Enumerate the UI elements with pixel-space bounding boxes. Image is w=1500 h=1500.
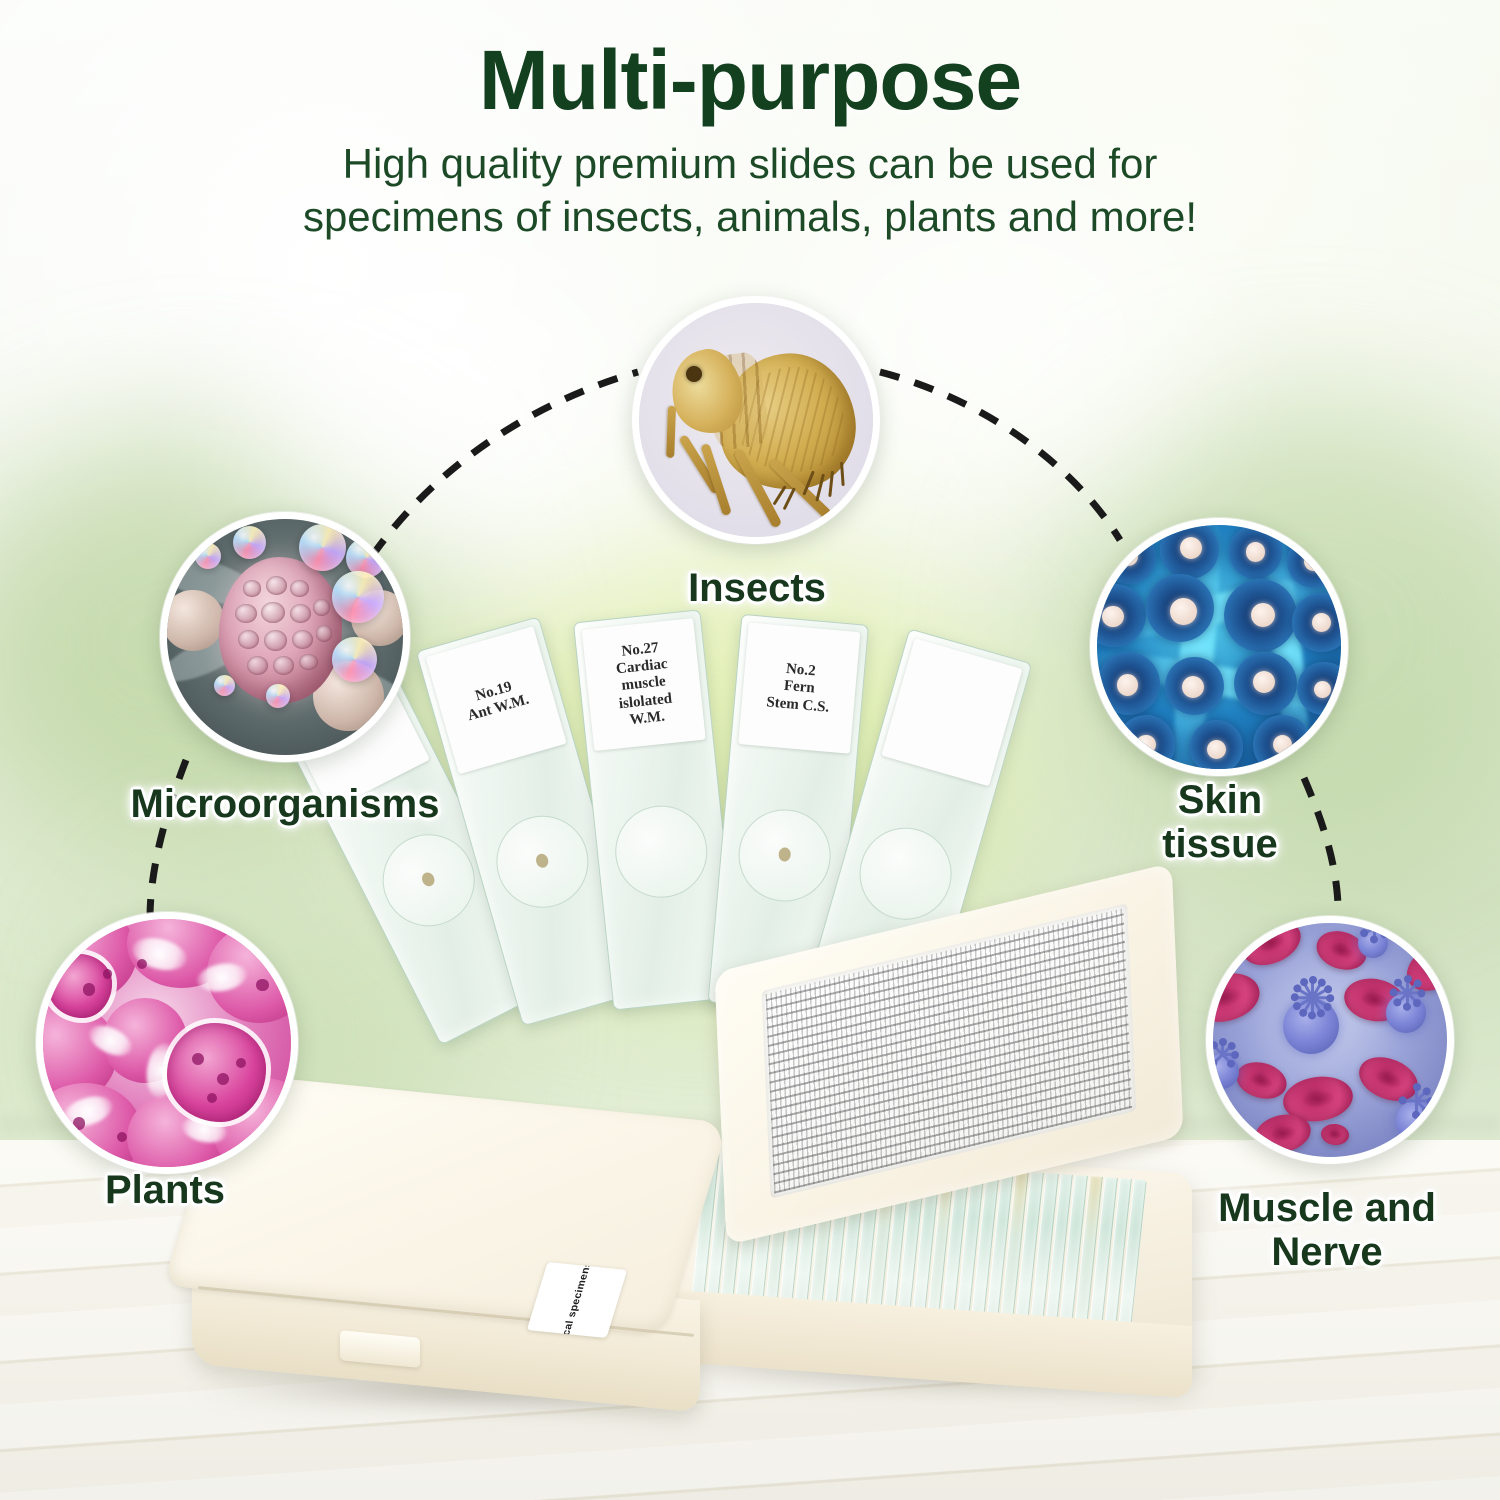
muscle-nerve-bubble [1206, 916, 1454, 1164]
subtitle-line-2: specimens of insects, animals, plants an… [0, 191, 1500, 244]
callout-insects[interactable] [632, 296, 880, 544]
slide-coverslip [611, 801, 712, 902]
callout-muscle-and-nerve[interactable] [1206, 916, 1454, 1164]
slide-label: No.2 Fern Stem C.S. [738, 622, 860, 753]
callout-skin-tissue[interactable] [1090, 518, 1348, 776]
flea-specimen-icon [639, 303, 873, 537]
page-subtitle: High quality premium slides can be used … [0, 138, 1500, 244]
skin-tissue-bubble [1090, 518, 1348, 776]
callout-label-muscle-and-nerve: Muscle and Nerve [1162, 1186, 1492, 1274]
callout-label-insects: Insects [572, 566, 942, 610]
slide-coverslip [849, 817, 963, 931]
insects-bubble [632, 296, 880, 544]
skin-tissue-section-icon [1097, 525, 1341, 769]
page-title: Multi-purpose [0, 38, 1500, 124]
callout-label-skin-tissue: Skin tissue [1115, 778, 1325, 866]
background-blob [250, 250, 630, 550]
callout-label-plants: Plants [10, 1168, 320, 1212]
callout-label-microorganisms: Microorganisms [60, 782, 510, 826]
virus-blood-cell-icon [1213, 923, 1447, 1157]
microorganisms-bubble [160, 512, 410, 762]
slide-label: No.19 Ant W.M. [425, 626, 566, 774]
product-banner-stage: Multi-purpose High quality premium slide… [0, 0, 1500, 1500]
plant-tissue-section-icon [43, 919, 291, 1167]
callout-plants[interactable] [36, 912, 298, 1174]
slide-label: No.27 Cardiac muscle islolated W.M. [582, 618, 706, 751]
open-slide-box[interactable] [672, 920, 1232, 1440]
lid-index-sheet [762, 904, 1137, 1199]
subtitle-line-1: High quality premium slides can be used … [0, 138, 1500, 191]
index-sheet-print [766, 909, 1133, 1194]
microorganism-cell-icon [167, 519, 403, 755]
closed-box-label-text: Biological specimens 30pcs [549, 1262, 605, 1338]
plants-bubble [36, 912, 298, 1174]
slide-label [881, 638, 1022, 786]
header-block: Multi-purpose High quality premium slide… [0, 38, 1500, 243]
callout-microorganisms[interactable] [160, 512, 410, 762]
